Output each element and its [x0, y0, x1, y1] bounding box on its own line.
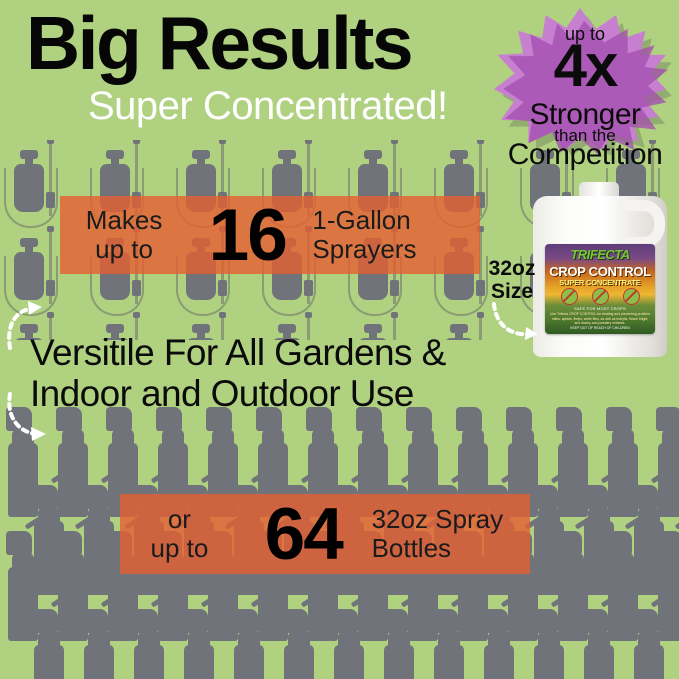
infographic-canvas: Big Results Super Concentrated! up to 4x… — [0, 0, 679, 679]
spray-bottle-icon — [476, 601, 522, 679]
product-label: TRIFECTA CROP CONTROL SUPER CONCENTRATE … — [545, 244, 655, 334]
page-subtitle: Super Concentrated! — [88, 85, 496, 127]
sprayers-count-wrap: 16 — [188, 199, 306, 272]
spray-bottle-icon — [376, 601, 422, 679]
starburst-multiplier: 4x — [494, 36, 676, 96]
starburst-badge: up to 4x Stronger than the Competition — [494, 8, 676, 158]
bottles-claim-suffix: 32oz Spray Bottles — [368, 505, 530, 563]
product-warning: KEEP OUT OF REACH OF CHILDREN — [545, 326, 655, 330]
sprayers-claim-suffix-line1: 1-Gallon — [312, 206, 480, 235]
product-safe-line: SAFE FOR MOST CROPS — [545, 306, 655, 311]
dashed-curved-arrow-icon — [2, 300, 46, 352]
sprayers-claim-banner: Makes up to 16 1-Gallon Sprayers — [60, 196, 480, 274]
spray-bottle-icon — [626, 601, 672, 679]
product-subtitle: SUPER CONCENTRATE — [545, 278, 655, 287]
versatility-headline: Versitile For All Gardens & Indoor and O… — [30, 332, 500, 415]
spray-bottle-icon — [126, 601, 172, 679]
versatility-headline-line1: Versitile For All Gardens & — [30, 332, 500, 373]
bottles-claim-prefix-line1: or — [120, 505, 239, 534]
product-fine-print: Use Trifecta CROP CONTROL for treating a… — [545, 312, 655, 326]
bottles-claim-prefix: or up to — [120, 505, 239, 563]
pest-fly-icon — [592, 288, 609, 305]
page-title: Big Results — [26, 8, 496, 79]
sprayers-claim-prefix: Makes up to — [60, 206, 188, 264]
headline-block: Big Results Super Concentrated! — [26, 8, 496, 127]
sprayers-claim-suffix-line2: Sprayers — [312, 235, 480, 264]
size-callout-line1: 32oz — [480, 258, 544, 281]
bottles-count: 64 — [239, 498, 368, 571]
dashed-curved-arrow-icon — [488, 300, 544, 344]
spray-bottle-icon — [26, 601, 72, 679]
bottles-claim-banner: or up to 64 32oz Spray Bottles — [120, 494, 530, 574]
spray-bottle-icon — [176, 601, 222, 679]
pest-aphid-icon — [623, 288, 640, 305]
product-name: CROP CONTROL — [545, 264, 655, 279]
spray-bottle-icon — [226, 601, 272, 679]
tank-sprayer-icon — [0, 140, 66, 238]
starburst-competition-label: Competition — [494, 138, 676, 172]
sprayers-count: 16 — [188, 199, 306, 272]
product-bottle-image: TRIFECTA CROP CONTROL SUPER CONCENTRATE … — [533, 182, 667, 357]
product-handle — [617, 200, 665, 248]
versatility-headline-line2: Indoor and Outdoor Use — [30, 373, 500, 414]
sprayers-claim-suffix: 1-Gallon Sprayers — [306, 206, 480, 264]
sprayers-claim-prefix-line2: up to — [60, 235, 188, 264]
spray-bottle-icon — [76, 601, 122, 679]
product-brand: TRIFECTA — [545, 247, 655, 262]
size-callout: 32oz Size — [480, 258, 544, 303]
bottles-count-wrap: 64 — [239, 498, 368, 571]
bottles-claim-suffix-line2: Bottles — [372, 534, 530, 563]
bottles-claim-prefix-line2: up to — [120, 534, 239, 563]
spray-bottle-icon — [276, 601, 322, 679]
spray-bottle-icon — [326, 601, 372, 679]
spray-bottle-icon — [426, 601, 472, 679]
spray-bottle-icon — [526, 601, 572, 679]
spray-bottle-icon — [576, 601, 622, 679]
pest-mite-icon — [561, 288, 578, 305]
bottles-claim-suffix-line1: 32oz Spray — [372, 505, 530, 534]
dashed-curved-arrow-icon — [4, 392, 50, 442]
sprayers-claim-prefix-line1: Makes — [60, 206, 188, 235]
